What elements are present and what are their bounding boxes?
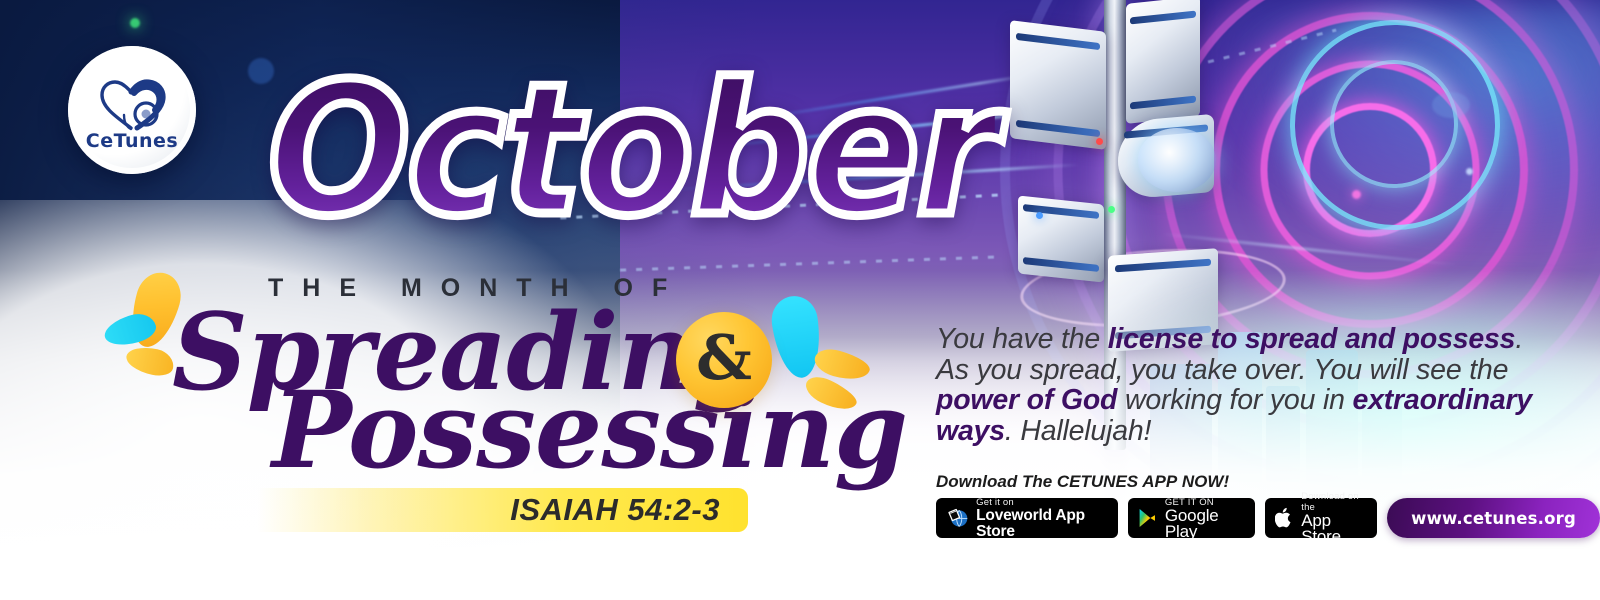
scripture-reference: ISAIAH 54:2-3 [510, 492, 748, 528]
badge-big-text: Loveworld App Store [976, 508, 1105, 540]
download-callout: Download The CETUNES APP NOW! [936, 472, 1229, 492]
store-badges: Get it on Loveworld App Store GET IT ON [936, 498, 1600, 538]
app-store-badge[interactable]: Download on the App Store [1265, 498, 1378, 538]
website-button[interactable]: www.cetunes.org [1387, 498, 1600, 538]
message-emphasis-2: power of God [936, 384, 1117, 416]
message-part-1: You have the [936, 323, 1108, 355]
month-title: October [268, 66, 995, 234]
scripture-reference-bar: ISAIAH 54:2-3 [258, 488, 748, 532]
antenna-panel [1126, 0, 1200, 124]
message-emphasis-1: license to spread and possess [1108, 323, 1516, 355]
cyan-ring-inner [1330, 60, 1458, 188]
badge-small-text: Get it on [976, 497, 1105, 508]
apple-icon [1275, 505, 1294, 531]
download-prefix: Download The [936, 472, 1057, 491]
headline-block: October THE MONTH OF Spreading & ISAIAH … [0, 0, 900, 600]
splash-drop-yellow-small [124, 343, 176, 378]
message-part-4: . Hallelujah! [1005, 415, 1151, 447]
message-paragraph: You have the license to spread and posse… [936, 324, 1536, 446]
badge-big-text: Google Play [1165, 508, 1242, 540]
sparkle [1432, 92, 1470, 118]
google-play-badge[interactable]: GET IT ON Google Play [1128, 498, 1254, 538]
status-led [1108, 206, 1115, 213]
theme-word-possessing: Possessing [272, 378, 907, 482]
badge-big-text: App Store [1301, 513, 1364, 545]
antenna-panel [1010, 20, 1106, 150]
loveworld-app-store-badge[interactable]: Get it on Loveworld App Store [936, 498, 1118, 538]
sparkle [1466, 168, 1473, 175]
message-part-3: working for you in [1117, 384, 1352, 416]
cetunes-october-banner: CeTunes October THE MONTH OF Spreading &… [0, 0, 1600, 600]
google-play-icon [1138, 506, 1157, 530]
download-suffix: NOW! [1177, 472, 1229, 491]
ampersand-glyph: & [696, 327, 752, 389]
badge-small-text: Download on the [1301, 491, 1364, 513]
loveworld-globe-icon [946, 505, 968, 531]
status-led [1096, 138, 1103, 145]
status-led [1036, 212, 1043, 219]
website-url: www.cetunes.org [1411, 509, 1576, 528]
download-app-name: CETUNES APP [1057, 472, 1177, 491]
antenna-dish [1138, 128, 1216, 192]
ampersand-badge: & [676, 312, 772, 408]
sparkle [1352, 190, 1361, 199]
